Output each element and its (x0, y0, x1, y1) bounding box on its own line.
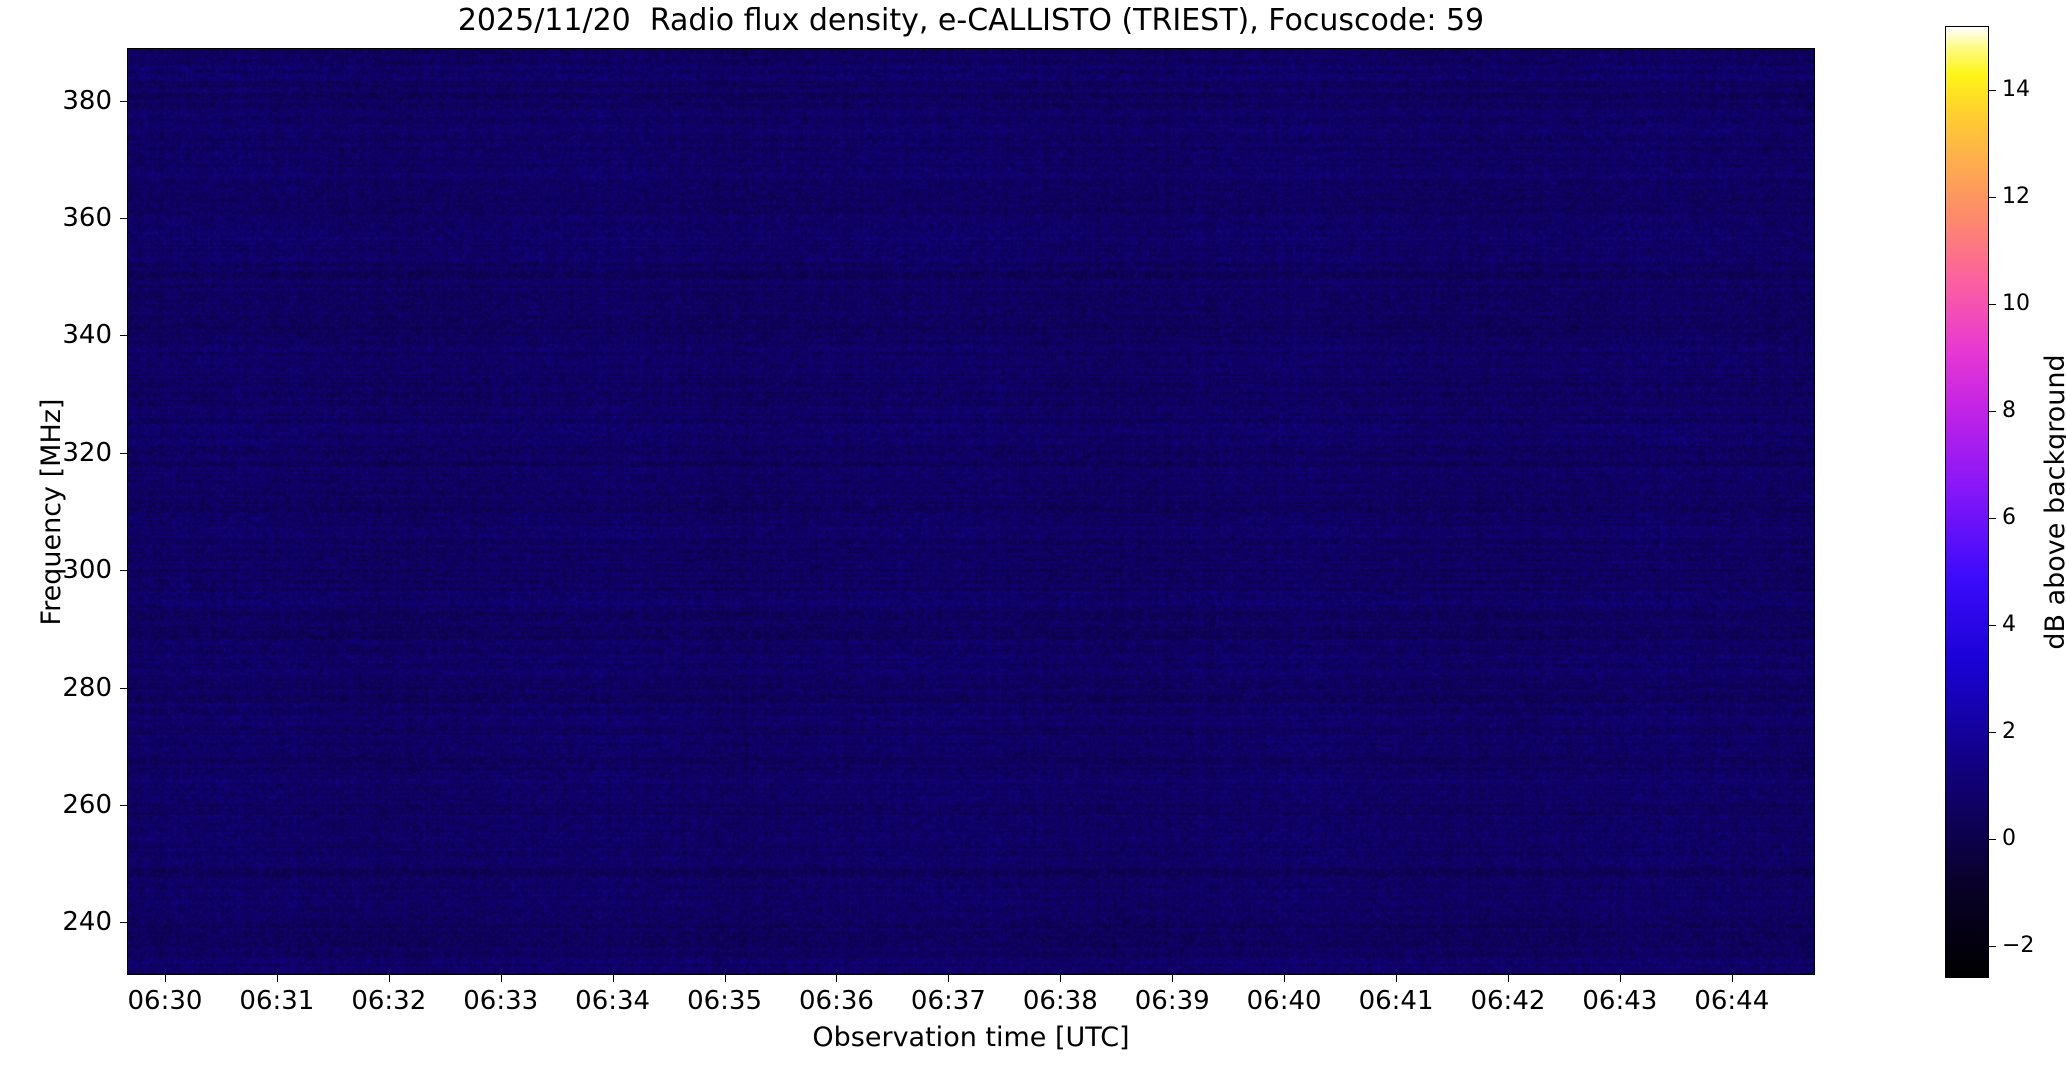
colorbar-tick-label: 2 (2002, 721, 2016, 743)
y-tick-label: 360 (0, 205, 112, 231)
colorbar-tick-mark (1989, 411, 1996, 412)
x-tick-mark (836, 975, 837, 982)
colorbar-tick-label: 8 (2002, 400, 2016, 422)
x-tick-mark (1732, 975, 1733, 982)
y-tick-label: 240 (0, 909, 112, 935)
colorbar-label: dB above background (2040, 354, 2066, 649)
x-tick-mark (1396, 975, 1397, 982)
colorbar-gradient (1946, 27, 1988, 977)
y-tick-mark (120, 805, 127, 806)
colorbar-tick-label: 12 (2002, 186, 2030, 208)
colorbar-tick-mark (1989, 90, 1996, 91)
y-tick-label: 260 (0, 792, 112, 818)
y-tick-mark (120, 688, 127, 689)
colorbar-tick-label: 4 (2002, 614, 2016, 636)
y-tick-label: 300 (0, 557, 112, 583)
x-tick-mark (1620, 975, 1621, 982)
x-tick-label: 06:44 (1652, 988, 1812, 1014)
x-axis-label: Observation time [UTC] (127, 1022, 1815, 1053)
colorbar-tick-mark (1989, 839, 1996, 840)
y-tick-mark (120, 101, 127, 102)
page-title: 2025/11/20 Radio flux density, e-CALLIST… (127, 2, 1815, 40)
y-tick-label: 320 (0, 440, 112, 466)
x-tick-mark (613, 975, 614, 982)
y-tick-mark (120, 922, 127, 923)
y-tick-mark (120, 453, 127, 454)
colorbar-tick-mark (1989, 197, 1996, 198)
colorbar-tick-label: 0 (2002, 828, 2016, 850)
x-tick-mark (165, 975, 166, 982)
colorbar-tick-mark (1989, 304, 1996, 305)
x-tick-mark (1060, 975, 1061, 982)
colorbar-tick-label: 14 (2002, 79, 2030, 101)
x-tick-mark (389, 975, 390, 982)
colorbar-tick-mark (1989, 518, 1996, 519)
colorbar (1945, 26, 1989, 978)
y-tick-mark (120, 570, 127, 571)
y-tick-label: 280 (0, 675, 112, 701)
x-tick-mark (1172, 975, 1173, 982)
x-tick-mark (1284, 975, 1285, 982)
colorbar-tick-label: −2 (2002, 935, 2034, 957)
y-tick-mark (120, 335, 127, 336)
spectrogram-plot-area (127, 48, 1815, 975)
colorbar-tick-label: 6 (2002, 507, 2016, 529)
x-tick-mark (277, 975, 278, 982)
colorbar-tick-mark (1989, 625, 1996, 626)
y-tick-mark (120, 218, 127, 219)
y-tick-label: 380 (0, 88, 112, 114)
x-tick-mark (1508, 975, 1509, 982)
colorbar-tick-mark (1989, 732, 1996, 733)
colorbar-tick-label: 10 (2002, 293, 2030, 315)
x-tick-mark (501, 975, 502, 982)
spectrogram-figure: 2025/11/20 Radio flux density, e-CALLIST… (0, 0, 2066, 1067)
colorbar-tick-mark (1989, 946, 1996, 947)
spectrogram-image (128, 49, 1814, 974)
y-axis-label: Frequency [MHz] (36, 398, 67, 625)
y-tick-label: 340 (0, 322, 112, 348)
x-tick-mark (948, 975, 949, 982)
x-tick-mark (725, 975, 726, 982)
